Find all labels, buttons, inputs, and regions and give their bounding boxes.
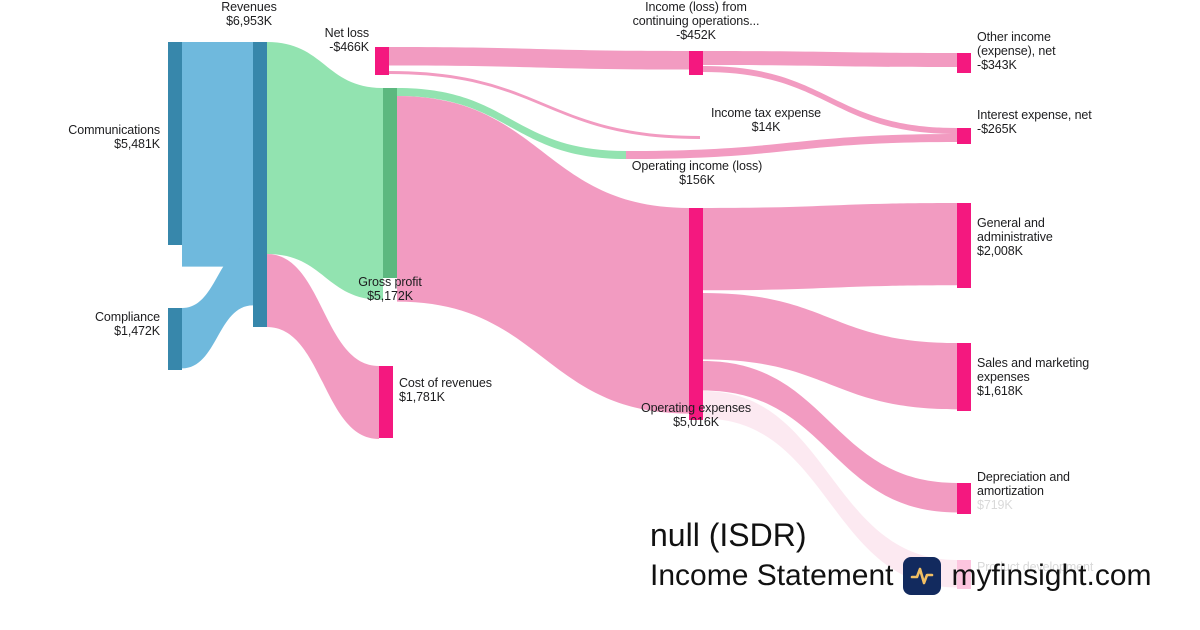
node-label-value-cost_of_revenues: $1,781K bbox=[399, 390, 492, 404]
node-label-value-sales_marketing: $1,618K bbox=[977, 384, 1089, 398]
sankey-node-depreciation[interactable] bbox=[957, 483, 971, 514]
sankey-diagram-canvas: Communications$5,481KCompliance$1,472KRe… bbox=[0, 0, 1200, 630]
node-label-name-compliance: Compliance bbox=[95, 310, 160, 324]
node-label-depreciation: Depreciation and amortization$719K bbox=[977, 470, 1070, 512]
sankey-node-operating_expenses[interactable] bbox=[689, 208, 703, 420]
sankey-node-general_admin[interactable] bbox=[957, 203, 971, 288]
pulse-wave-icon bbox=[909, 563, 935, 589]
node-label-name-net_loss: Net loss bbox=[325, 26, 369, 40]
sankey-node-net_loss[interactable] bbox=[375, 47, 389, 75]
node-label-name-revenues: Revenues bbox=[221, 0, 277, 14]
myfinsight-logo bbox=[903, 557, 941, 595]
sankey-node-compliance[interactable] bbox=[168, 308, 182, 370]
node-label-value-operating_expenses: $5,016K bbox=[546, 415, 846, 429]
sankey-node-income_continuing_ops[interactable] bbox=[689, 51, 703, 75]
node-label-name-interest_expense: Interest expense, net bbox=[977, 108, 1092, 122]
node-label-name-gross_profit: Gross profit bbox=[358, 275, 421, 289]
sankey-link-communications-to-revenues bbox=[182, 42, 253, 267]
node-label-value-depreciation: $719K bbox=[977, 498, 1070, 512]
node-label-value-other_income: -$343K bbox=[977, 58, 1056, 72]
node-label-operating_expenses: Operating expenses$5,016K bbox=[546, 401, 846, 429]
node-label-name-operating_expenses: Operating expenses bbox=[641, 401, 751, 415]
node-label-value-gross_profit: $5,172K bbox=[240, 289, 540, 303]
sankey-node-communications[interactable] bbox=[168, 42, 182, 245]
node-label-income_continuing_ops: Income (loss) from continuing operations… bbox=[546, 0, 846, 42]
node-label-revenues: Revenues$6,953K bbox=[99, 0, 399, 28]
node-label-net_loss: Net loss-$466K bbox=[325, 26, 369, 54]
node-label-name-cost_of_revenues: Cost of revenues bbox=[399, 376, 492, 390]
node-label-income_tax_expense: Income tax expense$14K bbox=[616, 106, 916, 134]
node-label-name-other_income: Other income (expense), net bbox=[977, 30, 1056, 58]
node-label-name-general_admin: General and administrative bbox=[977, 216, 1053, 244]
node-label-compliance: Compliance$1,472K bbox=[95, 310, 160, 338]
node-label-other_income: Other income (expense), net-$343K bbox=[977, 30, 1056, 72]
node-label-sales_marketing: Sales and marketing expenses$1,618K bbox=[977, 356, 1089, 398]
node-label-communications: Communications$5,481K bbox=[68, 123, 160, 151]
node-label-general_admin: General and administrative$2,008K bbox=[977, 216, 1053, 258]
node-label-name-sales_marketing: Sales and marketing expenses bbox=[977, 356, 1089, 384]
sankey-link-gross_profit-to-operating_expenses bbox=[397, 96, 689, 414]
node-label-value-income_continuing_ops: -$452K bbox=[546, 28, 846, 42]
sankey-link-operating_expenses-to-general_admin bbox=[703, 203, 957, 290]
node-label-value-communications: $5,481K bbox=[68, 137, 160, 151]
node-label-name-income_tax_expense: Income tax expense bbox=[711, 106, 821, 120]
node-label-operating_income: Operating income (loss)$156K bbox=[547, 159, 847, 187]
node-label-interest_expense: Interest expense, net-$265K bbox=[977, 108, 1092, 136]
node-label-value-compliance: $1,472K bbox=[95, 324, 160, 338]
footer-row: Income Statement myfinsight.com bbox=[650, 557, 1152, 595]
page-title: null (ISDR) bbox=[650, 515, 806, 555]
sankey-node-interest_expense[interactable] bbox=[957, 128, 971, 144]
sankey-node-cost_of_revenues[interactable] bbox=[379, 366, 393, 438]
chart-footer: null (ISDR) Income Statement myfinsight.… bbox=[650, 515, 1152, 595]
sankey-link-income_continuing_ops-to-other_income bbox=[703, 51, 957, 67]
site-url-label: myfinsight.com bbox=[951, 557, 1151, 595]
node-label-gross_profit: Gross profit$5,172K bbox=[240, 275, 540, 303]
node-label-name-operating_income: Operating income (loss) bbox=[632, 159, 762, 173]
node-label-name-depreciation: Depreciation and amortization bbox=[977, 470, 1070, 498]
node-label-value-general_admin: $2,008K bbox=[977, 244, 1053, 258]
sankey-node-other_income[interactable] bbox=[957, 53, 971, 73]
node-label-name-communications: Communications bbox=[68, 123, 160, 137]
sankey-link-net_loss-to-income_continuing_ops bbox=[389, 47, 689, 70]
node-label-value-operating_income: $156K bbox=[547, 173, 847, 187]
sankey-node-sales_marketing[interactable] bbox=[957, 343, 971, 411]
statement-type-label: Income Statement bbox=[650, 557, 893, 595]
node-label-name-income_continuing_ops: Income (loss) from continuing operations… bbox=[633, 0, 760, 28]
node-label-cost_of_revenues: Cost of revenues$1,781K bbox=[399, 376, 492, 404]
node-label-value-income_tax_expense: $14K bbox=[616, 120, 916, 134]
sankey-node-gross_profit[interactable] bbox=[383, 88, 397, 278]
node-label-value-interest_expense: -$265K bbox=[977, 122, 1092, 136]
node-label-value-net_loss: -$466K bbox=[325, 40, 369, 54]
